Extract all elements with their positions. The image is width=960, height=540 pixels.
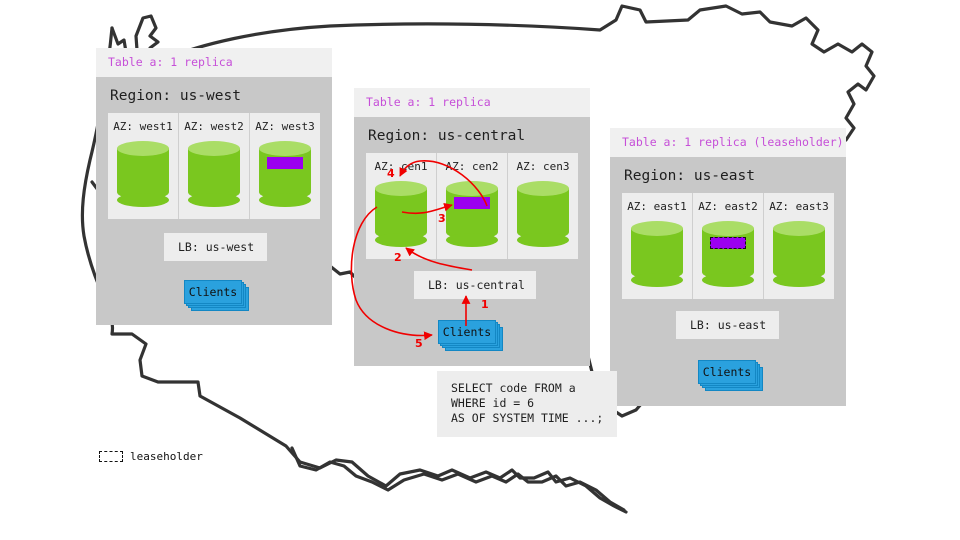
cylinder-top: [375, 181, 427, 196]
clients-label-us-west: Clients: [184, 280, 242, 304]
az-cell-cen3[interactable]: AZ: cen3: [508, 153, 578, 259]
cylinder-bottom: [188, 193, 240, 207]
az-row-us-west: AZ: west1 AZ: west2 AZ: west3: [108, 113, 320, 219]
region-title-us-central: Region: us-central: [354, 117, 590, 153]
cylinder-bottom: [517, 233, 569, 247]
legend-leaseholder: leaseholder: [99, 450, 203, 463]
dashed-rectangle-icon: [99, 451, 123, 462]
cylinder-bottom: [446, 233, 498, 247]
flow-step-label-3: 3: [438, 212, 446, 225]
load-balancer-us-west[interactable]: LB: us-west: [164, 233, 267, 261]
flow-step-label-1: 1: [481, 298, 489, 311]
load-balancer-us-central[interactable]: LB: us-central: [414, 271, 536, 299]
cylinder-top: [117, 141, 169, 156]
node-cylinder-east2[interactable]: [702, 221, 754, 287]
cylinder-bottom: [631, 273, 683, 287]
diagram-canvas: Table a: 1 replica Region: us-west AZ: w…: [0, 0, 960, 540]
az-label-west2: AZ: west2: [179, 120, 249, 133]
cylinder-bottom: [117, 193, 169, 207]
az-label-west3: AZ: west3: [250, 120, 320, 133]
node-cylinder-cen3[interactable]: [517, 181, 569, 247]
replica-marker-west3: [267, 157, 303, 169]
az-label-east1: AZ: east1: [622, 200, 692, 213]
az-row-us-central: AZ: cen1 AZ: cen2 AZ: cen3: [366, 153, 578, 259]
region-panel-us-west: Table a: 1 replica Region: us-west AZ: w…: [96, 48, 332, 325]
region-header-us-east: Table a: 1 replica (leaseholder): [610, 128, 846, 157]
clients-us-central[interactable]: Clients: [438, 320, 496, 344]
az-cell-east3[interactable]: AZ: east3: [764, 193, 834, 299]
cylinder-top: [188, 141, 240, 156]
flow-step-label-5: 5: [415, 337, 423, 350]
az-label-west1: AZ: west1: [108, 120, 178, 133]
node-cylinder-west1[interactable]: [117, 141, 169, 207]
region-header-us-west: Table a: 1 replica: [96, 48, 332, 77]
az-label-east3: AZ: east3: [764, 200, 834, 213]
cylinder-top: [259, 141, 311, 156]
az-label-cen2: AZ: cen2: [437, 160, 507, 173]
cylinder-top: [446, 181, 498, 196]
region-header-us-central: Table a: 1 replica: [354, 88, 590, 117]
region-panel-us-east: Table a: 1 replica (leaseholder) Region:…: [610, 128, 846, 406]
replica-marker-cen2: [454, 197, 490, 209]
node-cylinder-cen1[interactable]: [375, 181, 427, 247]
flow-step-label-4: 4: [387, 167, 395, 180]
clients-label-us-central: Clients: [438, 320, 496, 344]
az-label-cen3: AZ: cen3: [508, 160, 578, 173]
cylinder-top: [517, 181, 569, 196]
node-cylinder-east1[interactable]: [631, 221, 683, 287]
az-cell-west3[interactable]: AZ: west3: [250, 113, 320, 219]
cylinder-top: [773, 221, 825, 236]
node-cylinder-cen2[interactable]: [446, 181, 498, 247]
node-cylinder-west2[interactable]: [188, 141, 240, 207]
flow-step-label-2: 2: [394, 251, 402, 264]
az-cell-west2[interactable]: AZ: west2: [179, 113, 250, 219]
az-label-east2: AZ: east2: [693, 200, 763, 213]
cylinder-top: [702, 221, 754, 236]
az-row-us-east: AZ: east1 AZ: east2 AZ: east3: [622, 193, 834, 299]
az-cell-cen2[interactable]: AZ: cen2: [437, 153, 508, 259]
cylinder-bottom: [259, 193, 311, 207]
clients-label-us-east: Clients: [698, 360, 756, 384]
az-cell-east1[interactable]: AZ: east1: [622, 193, 693, 299]
cylinder-bottom: [773, 273, 825, 287]
load-balancer-us-east[interactable]: LB: us-east: [676, 311, 779, 339]
az-cell-cen1[interactable]: AZ: cen1: [366, 153, 437, 259]
replica-marker-east2-leaseholder: [710, 237, 746, 249]
az-label-cen1: AZ: cen1: [366, 160, 436, 173]
az-cell-east2[interactable]: AZ: east2: [693, 193, 764, 299]
clients-us-east[interactable]: Clients: [698, 360, 756, 384]
clients-us-west[interactable]: Clients: [184, 280, 242, 304]
cylinder-bottom: [702, 273, 754, 287]
cylinder-bottom: [375, 233, 427, 247]
sql-query-callout: SELECT code FROM a WHERE id = 6 AS OF SY…: [437, 371, 617, 437]
region-title-us-west: Region: us-west: [96, 77, 332, 113]
region-panel-us-central: Table a: 1 replica Region: us-central AZ…: [354, 88, 590, 366]
az-cell-west1[interactable]: AZ: west1: [108, 113, 179, 219]
region-title-us-east: Region: us-east: [610, 157, 846, 193]
node-cylinder-east3[interactable]: [773, 221, 825, 287]
cylinder-top: [631, 221, 683, 236]
legend-label: leaseholder: [130, 450, 203, 463]
node-cylinder-west3[interactable]: [259, 141, 311, 207]
